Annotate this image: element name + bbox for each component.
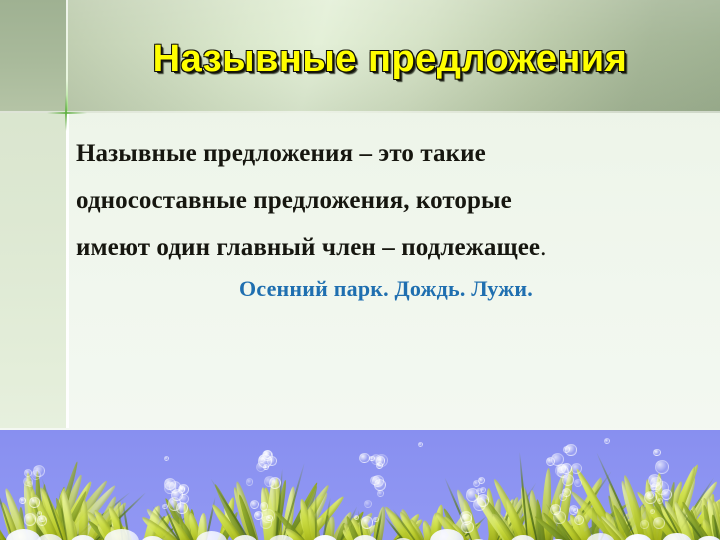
body-line-3: имеют один главный член – подлежащее.: [76, 224, 696, 271]
water-bubble: [557, 464, 566, 473]
water-bubble: [661, 489, 672, 500]
seaweed-cluster: [46, 466, 98, 540]
water-bubble: [250, 500, 259, 509]
water-bubble: [644, 491, 657, 504]
water-bubble: [650, 484, 656, 490]
water-bubble: [29, 497, 39, 507]
water-bubble: [162, 504, 167, 509]
body-line-3-text: имеют один главный член – подлежащее: [76, 234, 540, 261]
water-bubble: [553, 511, 565, 523]
seaweed-leaf: [78, 500, 89, 540]
water-bubble: [269, 477, 281, 489]
slide-title: Назывные предложения: [66, 38, 714, 81]
title-band-left-block: [0, 0, 66, 113]
water-bubble: [168, 497, 181, 510]
water-bubble: [361, 516, 374, 529]
seaweed-strand: [314, 489, 316, 540]
water-bubble: [24, 513, 37, 526]
water-bubble: [655, 460, 669, 474]
water-bubble: [650, 509, 655, 514]
body-line-2: односоставные предложения, которые: [76, 177, 696, 224]
water-bubble: [21, 498, 26, 503]
water-bubble: [164, 456, 169, 461]
water-bubble: [574, 515, 584, 525]
example-sentences: Осенний парк. Дождь. Лужи.: [76, 276, 696, 302]
water-bubble: [640, 520, 648, 528]
water-bubble: [354, 515, 359, 520]
water-bubble: [477, 494, 489, 506]
water-bubble: [369, 456, 374, 461]
water-bubble: [377, 490, 383, 496]
body-text-block: Назывные предложения – это такие односос…: [76, 130, 696, 271]
seaweed-cluster: [700, 480, 720, 540]
water-bubble: [373, 517, 378, 522]
underwater-seaweed-image: [0, 430, 720, 540]
body-line-3-period: .: [540, 234, 546, 261]
seaweed-cluster: [296, 478, 344, 540]
water-bubble: [260, 502, 268, 510]
water-bubble: [256, 462, 266, 472]
water-bubble: [653, 449, 660, 456]
water-bubble: [262, 450, 273, 461]
water-bubble: [604, 438, 610, 444]
water-bubble: [359, 453, 370, 464]
slide-canvas: Назывные предложения Назывные предложени…: [0, 0, 720, 540]
body-line-1: Назывные предложения – это такие: [76, 130, 696, 177]
water-bubble: [39, 516, 46, 523]
title-band-bottom-edge: [0, 111, 720, 113]
water-bubble: [460, 511, 472, 523]
water-bubble: [418, 442, 423, 447]
water-bubble: [565, 444, 576, 455]
water-bubble: [569, 505, 578, 514]
